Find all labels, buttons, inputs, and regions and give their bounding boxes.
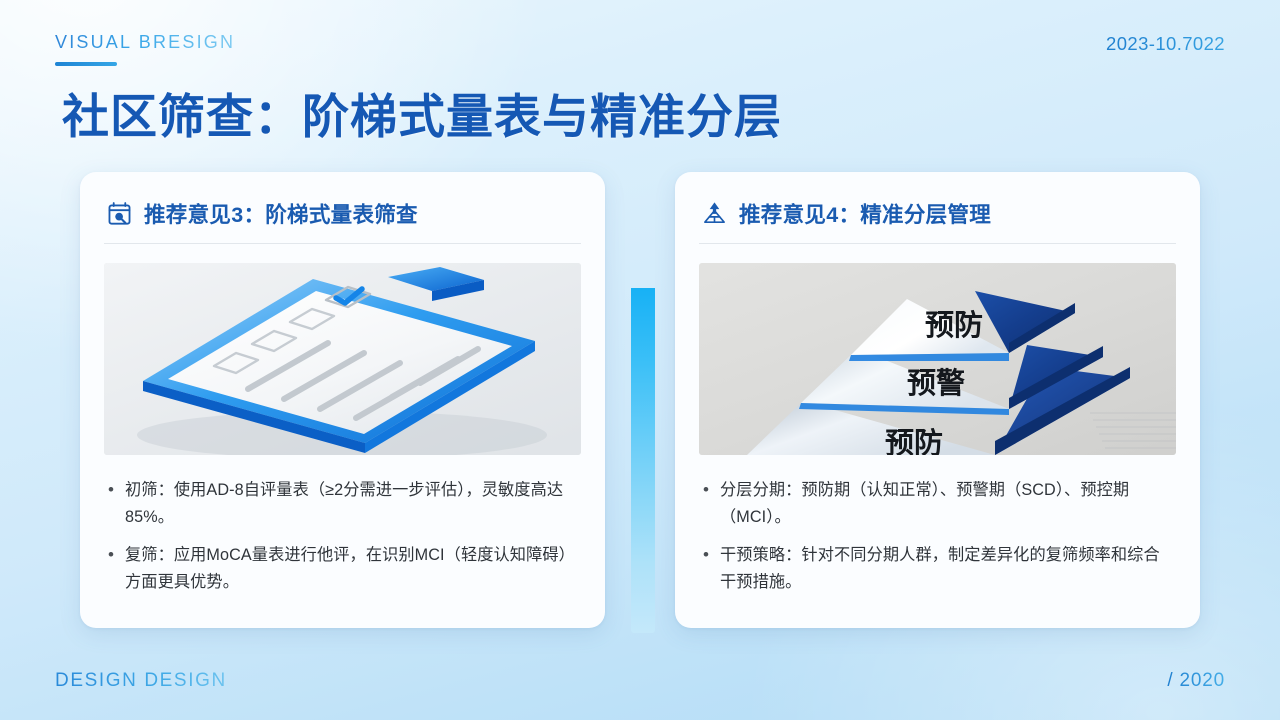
bullet-text: 复筛：应用MoCA量表进行他评，在识别MCI（轻度认知障碍）方面更具优势。	[125, 542, 575, 596]
bullet-dot-icon: •	[108, 477, 116, 531]
recommendation-card-4: 推荐意见4：精准分层管理	[675, 172, 1200, 628]
recommendation-card-3: 推荐意见3：阶梯式量表筛查	[80, 172, 605, 628]
bullet-text: 分层分期：预防期（认知正常）、预警期（SCD）、预控期（MCI）。	[720, 477, 1170, 531]
page-title: 社区筛查：阶梯式量表与精准分层	[62, 78, 782, 147]
footer-page-number: / 2020	[1167, 670, 1225, 692]
slide-canvas: VISUAL BRESIGN 2023-10.7022 社区筛查：阶梯式量表与精…	[0, 0, 1280, 720]
card-header: 推荐意见3：阶梯式量表筛查	[104, 198, 581, 229]
bullet-list: • 初筛：使用AD-8自评量表（≥2分需进一步评估），灵敏度高达85%。 • 复…	[104, 477, 581, 607]
brand-underline	[55, 62, 117, 66]
pyramid-layer-label-mid: 预警	[907, 366, 965, 400]
pyramid-layer-label-top: 预防	[925, 308, 983, 342]
clipboard-checklist-svg	[104, 263, 581, 455]
bullet-text: 初筛：使用AD-8自评量表（≥2分需进一步评估），灵敏度高达85%。	[125, 477, 575, 531]
bullet-text: 干预策略：针对不同分期人群，制定差异化的复筛频率和综合干预措施。	[720, 542, 1170, 596]
list-item: • 分层分期：预防期（认知正常）、预警期（SCD）、预控期（MCI）。	[703, 477, 1170, 531]
footer-brand: DESIGN DESIGN	[55, 670, 227, 692]
bullet-dot-icon: •	[703, 477, 711, 531]
pyramid-arrow-icon	[701, 200, 728, 227]
slide-date: 2023-10.7022	[1106, 33, 1225, 55]
card-header: 推荐意见4：精准分层管理	[699, 198, 1176, 229]
brand-block: VISUAL BRESIGN	[55, 32, 235, 66]
bullet-list: • 分层分期：预防期（认知正常）、预警期（SCD）、预控期（MCI）。 • 干预…	[699, 477, 1176, 607]
pyramid-svg: 预防 预警 预防	[699, 263, 1176, 455]
card-row: 推荐意见3：阶梯式量表筛查	[80, 172, 1200, 628]
clipboard-checklist-illustration	[104, 263, 581, 455]
list-item: • 初筛：使用AD-8自评量表（≥2分需进一步评估），灵敏度高达85%。	[108, 477, 575, 531]
list-item: • 复筛：应用MoCA量表进行他评，在识别MCI（轻度认知障碍）方面更具优势。	[108, 542, 575, 596]
card-title-divider	[699, 243, 1176, 244]
brand-label: VISUAL BRESIGN	[55, 32, 235, 53]
card-title: 推荐意见3：阶梯式量表筛查	[144, 198, 418, 229]
card-title: 推荐意见4：精准分层管理	[739, 198, 991, 229]
list-item: • 干预策略：针对不同分期人群，制定差异化的复筛频率和综合干预措施。	[703, 542, 1170, 596]
bullet-dot-icon: •	[108, 542, 116, 596]
pyramid-layer-label-bottom: 预防	[885, 426, 943, 455]
calendar-search-icon	[106, 200, 133, 227]
three-tier-pyramid-illustration: 预防 预警 预防	[699, 263, 1176, 455]
bullet-dot-icon: •	[703, 542, 711, 596]
card-title-divider	[104, 243, 581, 244]
